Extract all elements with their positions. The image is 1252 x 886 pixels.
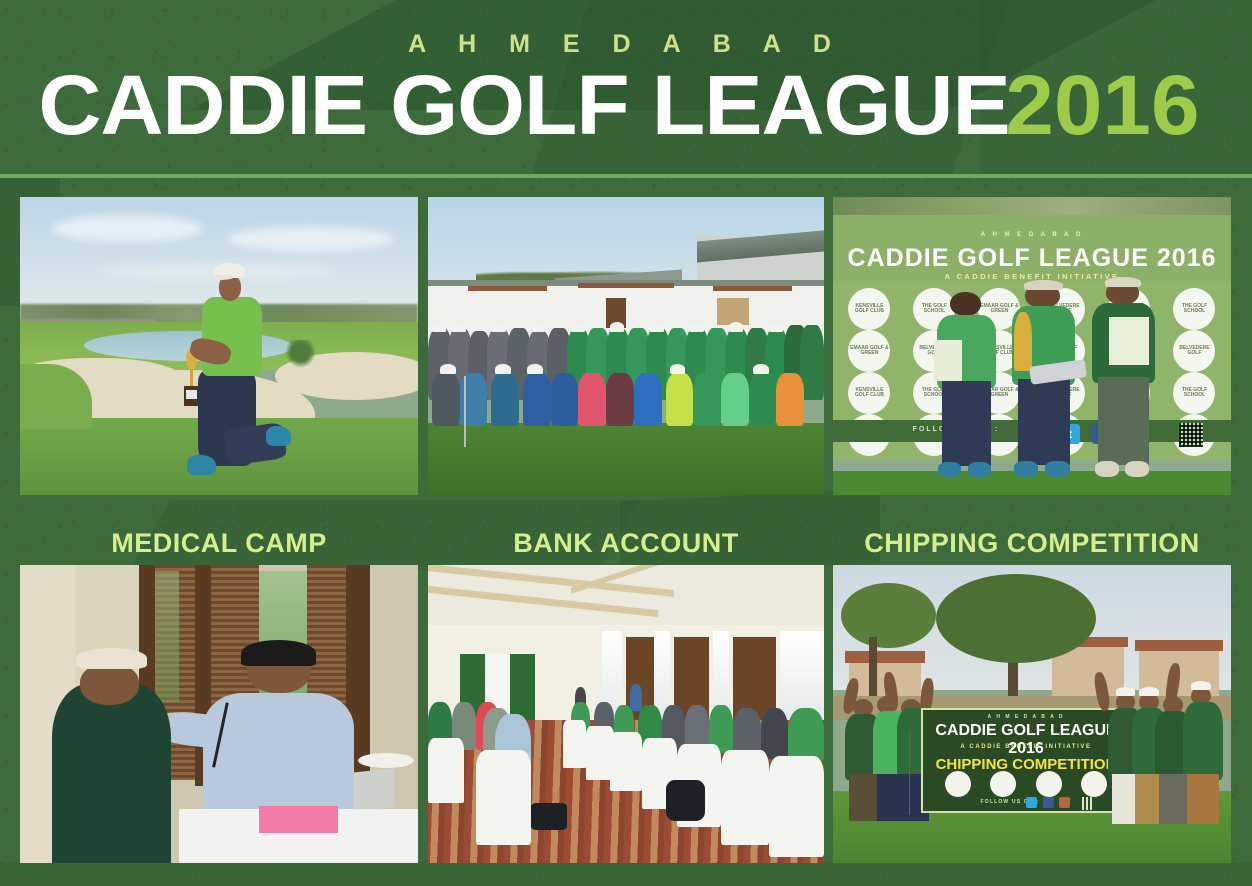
trousers: [942, 381, 991, 466]
cap: [571, 322, 585, 332]
attendee: [788, 708, 824, 762]
patient-head: [80, 663, 140, 705]
cap: [531, 322, 545, 332]
chipping-competition-banner: A H M E D A B A D CADDIE GOLF LEAGUE 201…: [921, 708, 1132, 813]
shoe: [1014, 461, 1038, 477]
sponsor-logo: [1036, 771, 1062, 797]
person: [749, 373, 777, 427]
trousers: [1018, 379, 1070, 466]
shoe: [1095, 461, 1119, 477]
person: [634, 373, 662, 427]
banner-event-name: CHIPPING COMPETITION: [923, 756, 1130, 773]
cap: [689, 322, 703, 332]
winner-1-figure: [933, 292, 1001, 477]
trophy-stem: [190, 369, 193, 388]
doctor-hair: [241, 640, 317, 667]
caption-bank-account: BANK ACCOUNT: [428, 525, 824, 561]
trousers: [849, 774, 877, 822]
tree-canopy: [936, 574, 1095, 663]
green-polo-shirt: [202, 297, 262, 376]
instagram-icon: [1059, 797, 1070, 808]
speaker: [630, 684, 642, 711]
qr-code-icon: [1179, 423, 1203, 447]
cap: [440, 364, 456, 374]
page-title: CADDIE GOLF LEAGUE: [38, 67, 1009, 144]
person: [776, 373, 804, 427]
roof-beam: [578, 283, 673, 287]
header-title-row: CADDIE GOLF LEAGUE 2016: [0, 66, 1252, 146]
cap: [432, 322, 446, 332]
caption-medical-camp: MEDICAL CAMP: [20, 525, 418, 561]
sponsor-logo: KENSVILLE GOLF CLUB: [848, 372, 890, 414]
header-divider: [0, 174, 1252, 178]
sponsor-logo: [945, 771, 971, 797]
cap: [1191, 681, 1211, 690]
covered-chair: [563, 720, 587, 768]
sponsor-logo: [1081, 771, 1107, 797]
cap: [670, 364, 686, 374]
shoe: [266, 426, 291, 446]
cap: [610, 322, 624, 332]
page-title-year: 2016: [1005, 67, 1199, 144]
patient-cap: [76, 648, 148, 669]
cap: [1024, 280, 1063, 290]
banner-title: CADDIE GOLF LEAGUE 2016: [923, 722, 1130, 758]
palm-tree: [283, 340, 319, 370]
roof-beam: [713, 286, 792, 290]
golf-club: [909, 732, 911, 815]
banner-subtitle: A CADDIE BENEFIT INITIATIVE: [923, 744, 1130, 750]
poster-canvas: A H M E D A B A D CADDIE GOLF LEAGUE 201…: [0, 0, 1252, 886]
shoe: [187, 455, 216, 475]
person: [721, 373, 749, 427]
shoe: [1125, 461, 1149, 477]
cap: [1105, 277, 1141, 287]
cap: [495, 364, 511, 374]
winner-2-figure: [1008, 280, 1080, 477]
qr-code-icon: [1080, 797, 1093, 810]
photo-chipping-competition: A H M E D A B A D CADDIE GOLF LEAGUE 201…: [833, 565, 1231, 863]
cap: [1116, 687, 1136, 696]
roof-beam: [468, 286, 547, 290]
sponsor-logo: EMAAR GOLF & GREEN: [848, 330, 890, 372]
sponsor-logo: THE GOLF SCHOOL: [1173, 372, 1215, 414]
winner-3-figure: [1088, 277, 1160, 477]
pink-folder: [259, 806, 339, 833]
shoe: [1045, 461, 1069, 477]
trousers: [1159, 774, 1187, 825]
window: [780, 631, 824, 720]
bag: [531, 803, 567, 830]
person: [432, 373, 460, 427]
trousers: [1187, 774, 1219, 825]
tree-trunk: [869, 637, 877, 703]
banner-kicker: A H M E D A B A D: [923, 714, 1130, 720]
backdrop-kicker: A H M E D A B A D: [833, 232, 1231, 238]
house-roof: [1135, 640, 1223, 652]
caption-chipping-competition: CHIPPING COMPETITION: [833, 525, 1231, 561]
attendee: [761, 708, 789, 759]
trophy: [1014, 312, 1033, 371]
person: [693, 373, 721, 427]
photo-winner-with-trophy: [20, 197, 418, 495]
covered-chair: [721, 750, 769, 845]
photo-group-of-caddies: [428, 197, 824, 495]
covered-chair: [610, 732, 642, 792]
covered-chair: [428, 738, 464, 804]
cap: [729, 322, 743, 332]
window-foliage-view: [155, 571, 179, 702]
covered-chair: [769, 756, 824, 857]
golf-club: [464, 376, 466, 448]
cap: [452, 322, 466, 332]
cap: [753, 364, 769, 374]
person: [551, 373, 579, 427]
caddie-patient-figure: [52, 684, 171, 863]
cloud: [52, 215, 203, 242]
cap: [650, 322, 664, 332]
plate-on-table: [358, 753, 414, 768]
sponsor-logo: THE GOLF SCHOOL: [1173, 288, 1215, 330]
caddie: [1183, 702, 1223, 779]
person: [523, 373, 551, 427]
photo-bank-account-session: [428, 565, 824, 863]
shoe: [938, 462, 961, 477]
certificate: [934, 340, 962, 381]
house-roof: [845, 651, 925, 663]
cap: [769, 322, 783, 332]
person: [491, 373, 519, 427]
person: [606, 373, 634, 427]
certificate: [1109, 317, 1149, 365]
shoe: [968, 462, 991, 477]
backdrop-title: CADDIE GOLF LEAGUE 2016: [833, 244, 1231, 273]
clubhouse-window: [717, 298, 749, 325]
cap: [527, 364, 543, 374]
trousers: [1098, 377, 1150, 465]
person: [578, 373, 606, 427]
lawn: [428, 423, 824, 495]
sponsor-logo: BELVEDERE GOLF: [1173, 330, 1215, 372]
backpack: [666, 780, 706, 822]
trophy-plaque: [186, 390, 197, 399]
sponsor-logo: [990, 771, 1016, 797]
photo-medical-camp: [20, 565, 418, 863]
photo-prize-winners: A H M E D A B A D CADDIE GOLF LEAGUE 201…: [833, 197, 1231, 495]
person: [666, 373, 694, 427]
twitter-icon: [1026, 797, 1037, 808]
cap: [1139, 687, 1159, 696]
poster-header: A H M E D A B A D CADDIE GOLF LEAGUE 201…: [0, 0, 1252, 176]
head: [950, 292, 981, 316]
header-kicker: A H M E D A B A D: [0, 30, 1252, 59]
caddie-winner-figure: [179, 263, 282, 489]
banner-sponsor-logos: [935, 773, 1117, 795]
covered-chair: [476, 750, 531, 845]
sponsor-logo: KENSVILLE GOLF CLUB: [848, 288, 890, 330]
facebook-icon: [1043, 797, 1054, 808]
cap: [491, 322, 505, 332]
cloud: [227, 227, 394, 251]
